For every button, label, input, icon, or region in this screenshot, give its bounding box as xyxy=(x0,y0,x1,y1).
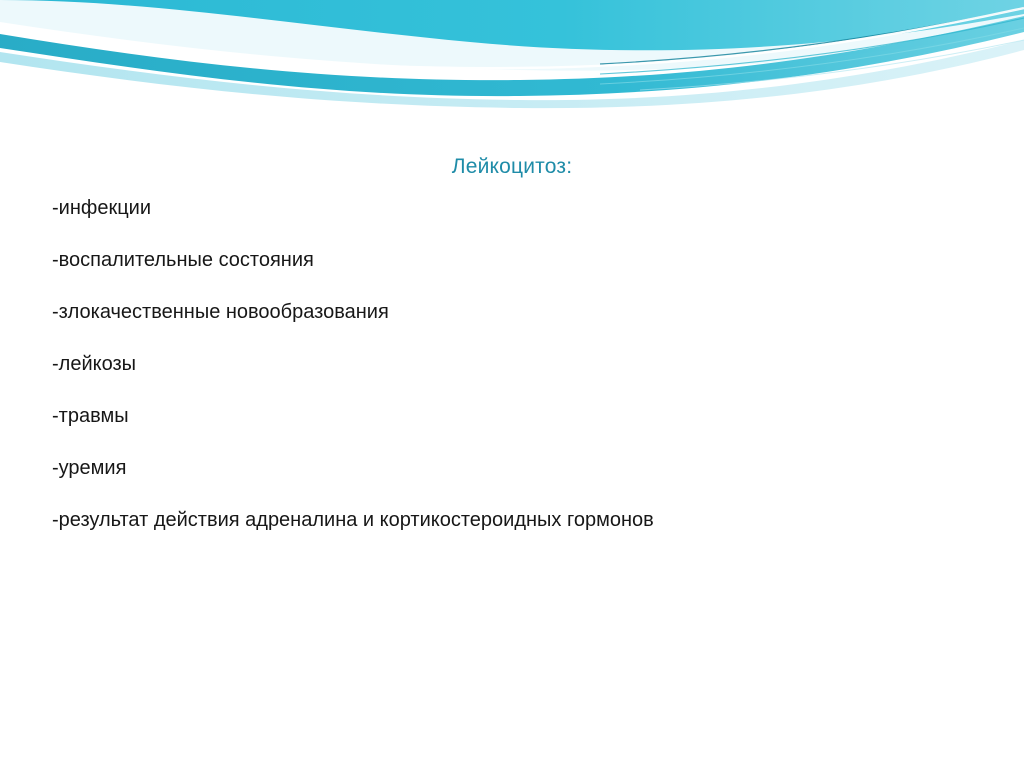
list-item: -уремия xyxy=(52,458,982,478)
list-item: -инфекции xyxy=(52,198,982,218)
bullet-list: -инфекции -воспалительные состояния -зло… xyxy=(52,198,982,530)
list-item: -лейкозы xyxy=(52,354,982,374)
wave-banner-decoration xyxy=(0,0,1024,110)
list-item: -результат действия адреналина и кортико… xyxy=(52,510,982,530)
list-item: -травмы xyxy=(52,406,982,426)
list-item: -злокачественные новообразования xyxy=(52,302,982,322)
list-item: -воспалительные состояния xyxy=(52,250,982,270)
slide-canvas: Лейкоцитоз: -инфекции -воспалительные со… xyxy=(0,0,1024,767)
page-title: Лейкоцитоз: xyxy=(0,155,1024,179)
